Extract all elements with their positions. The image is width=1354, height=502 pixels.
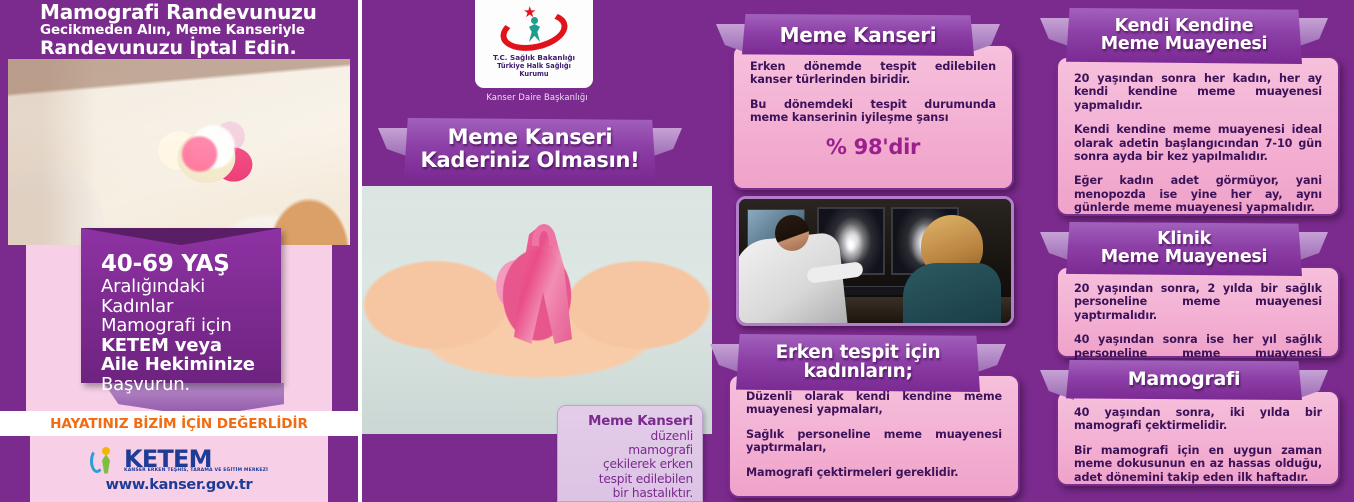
center-note-line-4: tespit edilebilen xyxy=(567,472,693,486)
center-note-line-3: çekilerek erken xyxy=(567,457,693,471)
ribbon-mamografi: Mamografi xyxy=(1066,360,1302,400)
doctor-head-shape xyxy=(775,215,809,251)
left-headline: Mamografi Randevunuzu Gecikmeden Alın, M… xyxy=(0,0,358,57)
left-panel: Mamografi Randevunuzu Gecikmeden Alın, M… xyxy=(0,0,358,502)
ribbon-plate: Meme Kanseri xyxy=(742,14,974,56)
card-erken-tespit-body: Düzenli olarak kendi kendine meme muayen… xyxy=(730,376,1018,489)
card-erken-tespit-paragraph-2: Sağlık personeline meme muayenesi yaptır… xyxy=(746,428,1002,455)
card-erken-tespit: Düzenli olarak kendi kendine meme muayen… xyxy=(728,374,1020,498)
age-range-label: 40-69 YAŞ xyxy=(101,252,281,277)
age-card-line-6: Aile Hekiminize xyxy=(101,355,281,375)
age-card-line-3: Kadınlar xyxy=(101,297,281,317)
ribbon-kendi-kendine: Kendi Kendine Meme Muayenesi xyxy=(1066,8,1302,64)
value-statement-strip: HAYATINIZ BİZİM İÇİN DEĞERLİDİR xyxy=(0,411,358,436)
card-kendi-kendine-muayene: 20 yaşından sonra her kadın, her ay kend… xyxy=(1056,56,1340,216)
ribbon-erken-tespit: Erken tespit için kadınların; xyxy=(736,334,980,392)
ministry-name-line-1: T.C. Sağlık Bakanlığı xyxy=(493,53,575,62)
center-ribbon-line-1: Meme Kanseri xyxy=(448,127,613,148)
ketem-subtitle: KANSER ERKEN TEŞHİS, TARAMA VE EĞİTİM ME… xyxy=(124,468,268,473)
card-mamografi-paragraph-1: 40 yaşından sonra, iki yılda bir mamogra… xyxy=(1074,406,1322,433)
ribbon-klinik-title-2: Meme Muayenesi xyxy=(1101,249,1267,267)
card-erken-tespit-paragraph-1: Düzenli olarak kendi kendine meme muayen… xyxy=(746,390,1002,417)
center-note-heading: Meme Kanseri xyxy=(567,414,693,429)
ribbon-mamografi-title: Mamografi xyxy=(1128,370,1240,389)
card-meme-kanseri-paragraph-2: Bu dönemdeki tespit durumunda meme kanse… xyxy=(750,98,996,125)
age-card-line-7: Başvurun. xyxy=(101,375,281,395)
patient-body-shape xyxy=(903,263,1001,326)
ketem-figure-icon xyxy=(90,447,120,475)
infographic-poster: Mamografi Randevunuzu Gecikmeden Alın, M… xyxy=(0,0,1354,502)
ribbon-meme-kanseri: Meme Kanseri xyxy=(742,14,974,56)
card-meme-kanseri-body: Erken dönemde tespit edilebilen kanser t… xyxy=(734,46,1012,169)
center-note-line-1: düzenli xyxy=(567,429,693,443)
center-definition-note: Meme Kanseri düzenli mamografi çekilerek… xyxy=(557,405,703,502)
card-mamografi-paragraph-2: Bir mamografi için en uygun zaman meme d… xyxy=(1074,444,1322,484)
age-card-line-2: Aralığındaki xyxy=(101,277,281,297)
ribbon-klinik-muayene: Klinik Meme Muayenesi xyxy=(1066,222,1302,276)
center-ribbon-line-2: Kaderiniz Olmasın! xyxy=(421,150,640,171)
ketem-head-shape xyxy=(102,447,110,455)
ribbon-plate: Erken tespit için kadınların; xyxy=(736,334,980,392)
department-label: Kanser Daire Başkanlığı xyxy=(362,92,712,102)
ribbon-meme-kanseri-title: Meme Kanseri xyxy=(780,25,937,45)
ministry-name-line-2: Türkiye Halk Sağlığı xyxy=(497,62,571,70)
card-erken-tespit-paragraph-3: Mamografi çektirmeleri gereklidir. xyxy=(746,466,1002,479)
person-head-shape xyxy=(531,17,538,24)
card-klinik-paragraph-1: 20 yaşından sonra, 2 yılda bir sağlık pe… xyxy=(1074,282,1322,322)
age-card-line-4: Mamografi için xyxy=(101,316,281,336)
ministry-of-health-logo-card: T.C. Sağlık Bakanlığı Türkiye Halk Sağlı… xyxy=(475,0,593,88)
center-note-line-2: mamografi xyxy=(567,443,693,457)
center-ribbon-banner: Meme Kanseri Kaderiniz Olmasın! xyxy=(404,118,656,180)
ketem-website-url[interactable]: www.kanser.gov.tr xyxy=(106,477,253,493)
person-torso-shape xyxy=(529,24,540,42)
age-card-line-5: KETEM veya xyxy=(101,336,281,356)
headline-line-1: Mamografi Randevunuzu xyxy=(40,2,352,22)
right-section: Erken dönemde tespit edilebilen kanser t… xyxy=(712,0,1354,502)
ribbon-plate: Meme Kanseri Kaderiniz Olmasın! xyxy=(404,118,656,180)
ribbon-kendi-kendine-title-2: Meme Muayenesi xyxy=(1101,36,1267,54)
card-meme-kanseri-paragraph-1: Erken dönemde tespit edilebilen kanser t… xyxy=(750,60,996,87)
ketem-wordmark: KETEM xyxy=(124,448,268,470)
card-kendi-kendine-paragraph-1: 20 yaşından sonra her kadın, her ay kend… xyxy=(1074,72,1322,112)
survival-rate-highlight: % 98'dir xyxy=(750,135,996,159)
card-klinik-muayene: 20 yaşından sonra, 2 yılda bir sağlık pe… xyxy=(1056,266,1340,358)
age-recommendation-card: 40-69 YAŞ Aralığındaki Kadınlar Mamograf… xyxy=(81,228,281,383)
card-mamografi: 40 yaşından sonra, iki yılda bir mamogra… xyxy=(1056,390,1340,486)
ministry-name-line-3: Kurumu xyxy=(519,70,548,78)
ribbon-plate: Klinik Meme Muayenesi xyxy=(1066,222,1302,276)
card-kendi-kendine-body: 20 yaşından sonra her kadın, her ay kend… xyxy=(1058,58,1338,225)
ribbon-plate: Mamografi xyxy=(1066,360,1302,400)
ketem-logo: KETEM KANSER ERKEN TEŞHİS, TARAMA VE EĞİ… xyxy=(90,446,268,476)
card-mamografi-body: 40 yaşından sonra, iki yılda bir mamogra… xyxy=(1058,392,1338,494)
person-figure-shape xyxy=(527,17,542,43)
left-pink-band-edge-right xyxy=(332,245,358,411)
center-note-line-5: bir hastalıktır. xyxy=(567,486,693,500)
card-meme-kanseri: Erken dönemde tespit edilebilen kanser t… xyxy=(732,44,1014,190)
card-kendi-kendine-paragraph-3: Eğer kadın adet görmüyor, yani menopozda… xyxy=(1074,174,1322,214)
ketem-branding-block: KETEM KANSER ERKEN TEŞHİS, TARAMA VE EĞİ… xyxy=(30,436,328,502)
left-pink-band-edge-left xyxy=(0,245,26,411)
headline-line-3: Randevunuzu İptal Edin. xyxy=(40,38,352,58)
center-panel: T.C. Sağlık Bakanlığı Türkiye Halk Sağlı… xyxy=(362,0,712,502)
value-statement-text: HAYATINIZ BİZİM İÇİN DEĞERLİDİR xyxy=(50,416,308,432)
doctor-reviewing-mammogram-photo xyxy=(736,196,1014,326)
ribbon-plate: Kendi Kendine Meme Muayenesi xyxy=(1066,8,1302,64)
ribbon-erken-tespit-title-2: kadınların; xyxy=(803,363,912,382)
headline-line-2: Gecikmeden Alın, Meme Kanseriyle xyxy=(40,22,352,38)
ministry-emblem-icon xyxy=(497,6,571,52)
card-kendi-kendine-paragraph-2: Kendi kendine meme muayenesi ideal olara… xyxy=(1074,123,1322,163)
